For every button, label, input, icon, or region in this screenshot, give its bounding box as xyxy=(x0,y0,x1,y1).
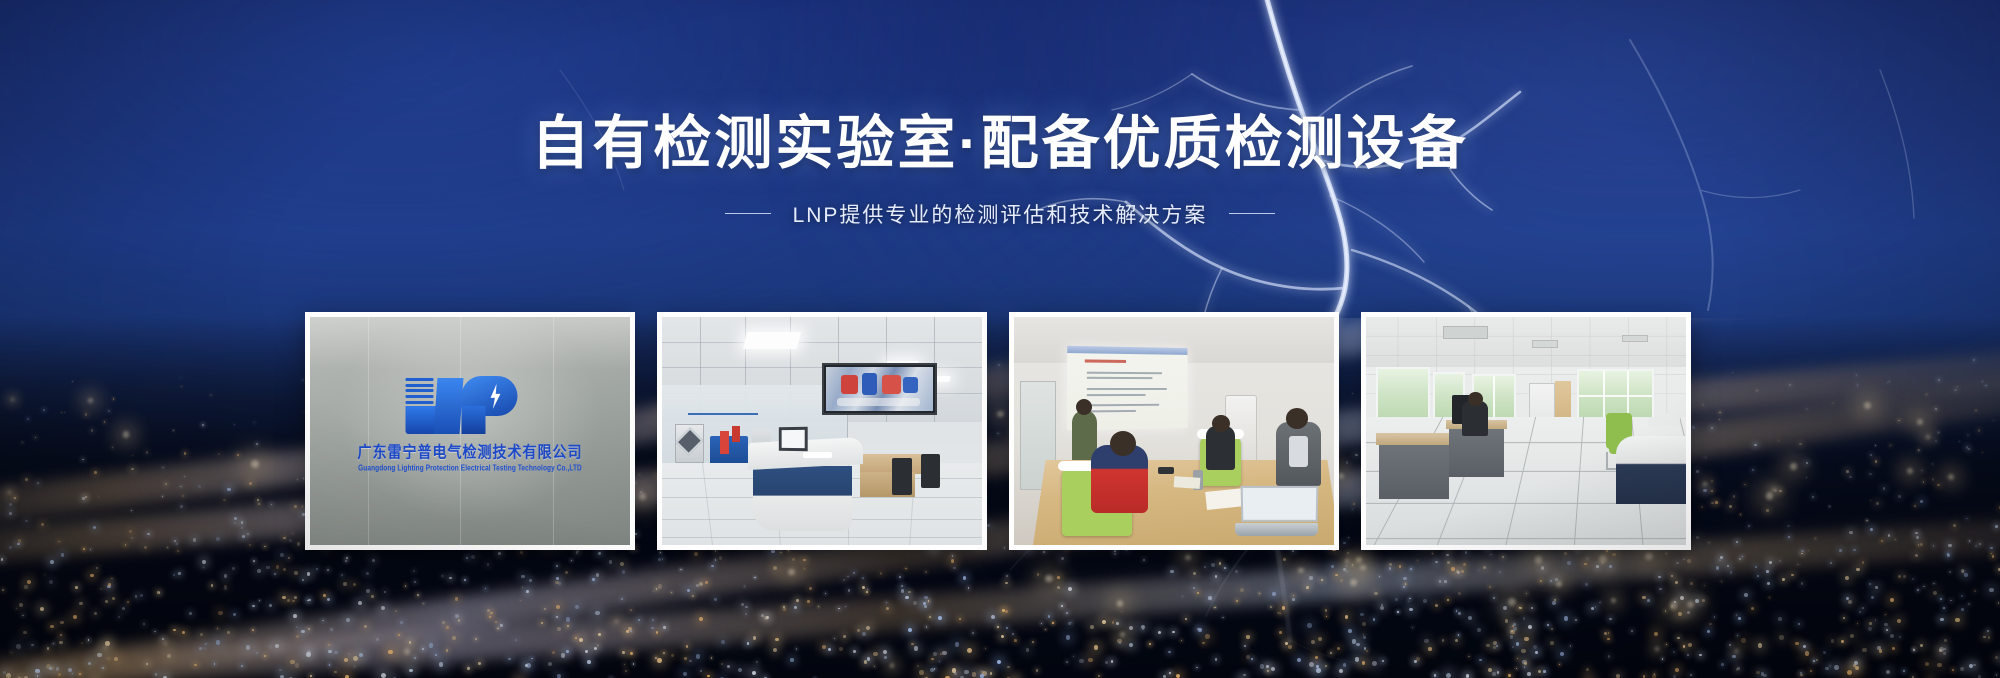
wall-monitor xyxy=(822,363,937,415)
laptop xyxy=(1235,486,1318,536)
lnp-logo: 广东雷宁普电气检测技术有限公司 Guangdong Lighting Prote… xyxy=(358,372,583,472)
photo-card-office-area[interactable] xyxy=(1361,312,1691,550)
photo-card-company-logo-wall[interactable]: 广东雷宁普电气检测技术有限公司 Guangdong Lighting Prote… xyxy=(305,312,635,550)
office-area-photo xyxy=(1366,317,1686,545)
photo-card-meeting-room[interactable] xyxy=(1009,312,1339,550)
testing-laboratory-photo xyxy=(662,317,982,545)
rule-right-icon xyxy=(1229,213,1275,214)
banner-headline: 自有检测实验室·配备优质检测设备 xyxy=(531,112,1468,177)
meeting-room-photo xyxy=(1014,317,1334,545)
photo-card-row: 广东雷宁普电气检测技术有限公司 Guangdong Lighting Prote… xyxy=(305,312,1691,550)
headline-block: 自有检测实验室·配备优质检测设备 LNP提供专业的检测评估和技术解决方案 xyxy=(0,112,2000,229)
photo-card-testing-laboratory[interactable] xyxy=(657,312,987,550)
banner-subheadline: LNP提供专业的检测评估和技术解决方案 xyxy=(793,199,1208,229)
rule-left-icon xyxy=(725,213,771,214)
company-logo-wall-photo: 广东雷宁普电气检测技术有限公司 Guangdong Lighting Prote… xyxy=(310,317,630,545)
company-name-cn: 广东雷宁普电气检测技术有限公司 xyxy=(358,441,583,463)
hero-banner: 自有检测实验室·配备优质检测设备 LNP提供专业的检测评估和技术解决方案 xyxy=(0,0,2000,678)
banner-subheadline-row: LNP提供专业的检测评估和技术解决方案 xyxy=(725,199,1276,229)
lnp-mark-icon xyxy=(405,372,535,434)
company-name-en: Guangdong Lighting Protection Electrical… xyxy=(358,464,582,473)
